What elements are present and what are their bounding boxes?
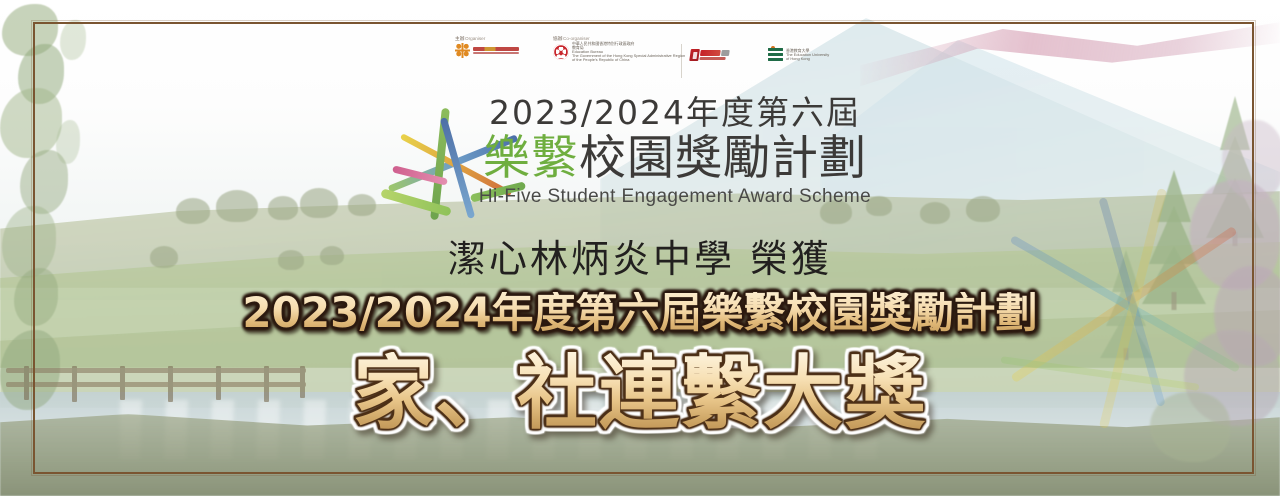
- eduhk-en-2: of Hong Kong: [786, 57, 829, 62]
- award-title-text: 家、社連繫大獎: [353, 352, 927, 436]
- people-grid-icon: [455, 43, 470, 58]
- education-bureau-text: 中華人民共和國香港特別行政區政府 教育局 Education Bureau Th…: [572, 43, 647, 62]
- sponsor-logo-strip: 主辦 Organiser 協辦 Co-organiser: [455, 38, 840, 84]
- eb-line-5: of the People's Republic of China: [572, 58, 685, 63]
- eduhk-logo: 香港教育大學 The Education University of Hong …: [760, 38, 834, 63]
- scheme-logo: [682, 38, 760, 63]
- school-award-line: 潔心林炳炎中學 榮獲: [0, 228, 1280, 283]
- scheme-year-line: 2023/2024年度第六屆: [0, 96, 1280, 131]
- scheme-name-accent: 樂繫: [483, 131, 579, 186]
- organiser-caption-zh: 主辦: [455, 37, 465, 42]
- eduhk-bars-icon: [768, 48, 783, 63]
- scheme-gold-line: 2023/2024年度第六屆樂繫校園獎勵計劃: [0, 292, 1280, 334]
- hksar-bauhinia-emblem-icon: [553, 44, 569, 60]
- award-title: 家、社連繫大獎: [0, 352, 1280, 436]
- co-organiser-logo: 協辦 Co-organiser 中華人民共和國香港特別行政區政府 教育局 Edu…: [543, 38, 681, 62]
- red-scheme-logo-icon: [689, 48, 731, 63]
- co-organiser-caption-zh: 協辦: [553, 37, 563, 42]
- organiser-wordmark: [473, 47, 519, 55]
- award-banner: 主辦 Organiser 協辦 Co-organiser: [0, 0, 1280, 496]
- organiser-logo: 主辦 Organiser: [455, 38, 543, 58]
- eduhk-text: 香港教育大學 The Education University of Hong …: [786, 50, 815, 61]
- organiser-caption: 主辦 Organiser: [455, 38, 543, 41]
- organiser-caption-en: Organiser: [465, 37, 485, 42]
- scheme-name-english: Hi-Five Student Engagement Award Scheme: [0, 186, 1280, 208]
- co-organiser-caption: 協辦 Co-organiser: [553, 38, 681, 41]
- scheme-name-line: 樂繫校園獎勵計劃: [0, 133, 1280, 186]
- scheme-name-rest: 校園獎勵計劃: [579, 131, 867, 186]
- scheme-heading: 2023/2024年度第六屆 樂繫校園獎勵計劃 Hi-Five Student …: [0, 96, 1280, 208]
